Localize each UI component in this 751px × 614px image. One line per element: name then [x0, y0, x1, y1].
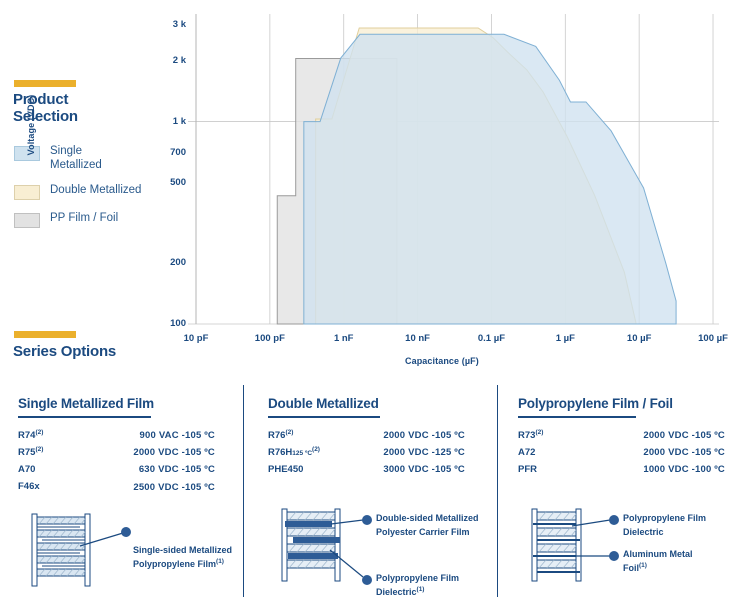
- column-polypropylene-film-foil: Polypropylene Film / Foil R73(2) 2000 VD…: [518, 380, 743, 611]
- callout-line1: Single-sided Metallized: [133, 544, 232, 556]
- series-spec: 2000 VDC -105 ºC: [604, 444, 743, 461]
- callout-line2: Dielectric(1): [376, 584, 459, 598]
- x-tick-label: 1 nF: [319, 333, 369, 344]
- series-name: A72: [518, 447, 535, 458]
- series-table-polypropylene: R73(2) 2000 VDC -105 ºC A72 2000 VDC -10…: [518, 427, 743, 478]
- x-tick-label: 100 pF: [245, 333, 295, 344]
- x-tick-label: 10 pF: [171, 333, 221, 344]
- callout-label-poly-2: Aluminum Metal Foil(1): [623, 548, 693, 574]
- column-single-metallized-film: Single Metallized Film R74(2) 900 VAC -1…: [18, 380, 233, 611]
- y-tick-label: 700: [158, 147, 186, 158]
- metal-layer: [288, 553, 338, 559]
- series-name: PFR: [518, 464, 537, 475]
- table-row[interactable]: F46x 2500 VDC -105 ºC: [18, 478, 233, 495]
- y-tick-label: 3 k: [158, 19, 186, 30]
- x-tick-label: 100 µF: [688, 333, 738, 344]
- chart-plot-svg: [0, 0, 751, 372]
- series-spec: 2000 VDC -105 ºC: [104, 444, 233, 461]
- product-selection-page: Product Selection Single Metallized Doub…: [0, 0, 751, 611]
- callout-line2: Foil(1): [623, 560, 693, 574]
- capacitor-diagram-double: Double-sided Metallized Polyester Carrie…: [268, 504, 483, 609]
- series-spec: 1000 VDC -100 ºC: [604, 461, 743, 478]
- table-row[interactable]: R74(2) 900 VAC -105 ºC: [18, 427, 233, 444]
- series-table-single-metallized: R74(2) 900 VAC -105 ºC R75(2) 2000 VDC -…: [18, 427, 233, 496]
- callout-line1: Polypropylene Film: [376, 572, 459, 584]
- metal-layer: [285, 521, 332, 527]
- series-note: (2): [35, 446, 43, 453]
- x-tick-label: 10 µF: [614, 333, 664, 344]
- column-rule-2: [268, 416, 380, 418]
- series-name-cell: R76H125 ºC(2): [268, 444, 354, 461]
- series-name-cell: F46x: [18, 478, 104, 495]
- column-divider-2: [497, 385, 498, 597]
- callout-dot: [609, 515, 619, 525]
- callout-line2: Polypropylene Film(1): [133, 556, 232, 570]
- series-name: R75: [18, 447, 35, 458]
- table-row[interactable]: R76H125 ºC(2) 2000 VDC -125 ºC: [268, 444, 483, 461]
- y-tick-label: 2 k: [158, 55, 186, 66]
- table-row[interactable]: R73(2) 2000 VDC -105 ºC: [518, 427, 743, 444]
- y-tick-label: 100: [158, 318, 186, 329]
- series-subnote: 125 ºC: [292, 450, 312, 457]
- series-name: R76: [268, 430, 285, 441]
- metal-layer: [293, 537, 340, 543]
- x-tick-label: 1 µF: [540, 333, 590, 344]
- callout-line2: Dielectric: [623, 524, 706, 538]
- series-name-cell: PHE450: [268, 461, 354, 478]
- series-spec: 2500 VDC -105 ºC: [104, 478, 233, 495]
- series-name-cell: R75(2): [18, 444, 104, 461]
- series-spec: 3000 VDC -105 ºC: [354, 461, 483, 478]
- voltage-capacitance-chart: Voltage (VDC) Capacitance (µF) 3 k2 k1 k…: [0, 0, 751, 372]
- callout-line1: Double-sided Metallized: [376, 512, 479, 524]
- callout-line1: Polypropylene Film: [623, 512, 706, 524]
- series-spec: 2000 VDC -105 ºC: [604, 427, 743, 444]
- series-name: F46x: [18, 482, 40, 493]
- series-name-cell: R76(2): [268, 427, 354, 444]
- table-row[interactable]: A70 630 VDC -105 ºC: [18, 461, 233, 478]
- series-name: PHE450: [268, 464, 303, 475]
- series-name-cell: PFR: [518, 461, 604, 478]
- table-row[interactable]: R75(2) 2000 VDC -105 ºC: [18, 444, 233, 461]
- table-row[interactable]: PFR 1000 VDC -100 ºC: [518, 461, 743, 478]
- callout-line2: Polyester Carrier Film: [376, 524, 479, 538]
- column-rule-3: [518, 416, 636, 418]
- callout-label-double-1: Double-sided Metallized Polyester Carrie…: [376, 512, 479, 538]
- callout-label-double-2: Polypropylene Film Dielectric(1): [376, 572, 459, 598]
- callout-dot: [121, 527, 131, 537]
- series-note: (2): [35, 429, 43, 436]
- callout-label-poly-1: Polypropylene Film Dielectric: [623, 512, 706, 538]
- callout-dot: [609, 551, 619, 561]
- table-row[interactable]: A72 2000 VDC -105 ºC: [518, 444, 743, 461]
- x-tick-label: 0.1 µF: [466, 333, 516, 344]
- column-double-metallized: Double Metallized R76(2) 2000 VDC -105 º…: [268, 380, 483, 611]
- series-name-cell: R74(2): [18, 427, 104, 444]
- table-row[interactable]: R76(2) 2000 VDC -105 ºC: [268, 427, 483, 444]
- table-row[interactable]: PHE450 3000 VDC -105 ºC: [268, 461, 483, 478]
- y-tick-label: 500: [158, 177, 186, 188]
- column-title-polypropylene-film-foil: Polypropylene Film / Foil: [518, 380, 743, 411]
- callout-line1: Aluminum Metal: [623, 548, 693, 560]
- y-tick-label: 200: [158, 257, 186, 268]
- column-title-double-metallized: Double Metallized: [268, 380, 483, 411]
- column-title-single-metallized-film: Single Metallized Film: [18, 380, 233, 411]
- series-note: (2): [285, 429, 293, 436]
- series-name: R74: [18, 430, 35, 441]
- capacitor-diagram-single: Single-sided Metallized Polypropylene Fi…: [18, 509, 233, 614]
- callout-label-single-1: Single-sided Metallized Polypropylene Fi…: [133, 544, 232, 570]
- column-rule-1: [18, 416, 151, 418]
- x-axis-title: Capacitance (µF): [405, 356, 479, 366]
- series-name-cell: A70: [18, 461, 104, 478]
- series-name-cell: A72: [518, 444, 604, 461]
- y-axis-title: Voltage (VDC): [26, 85, 36, 165]
- series-table-double-metallized: R76(2) 2000 VDC -105 ºC R76H125 ºC(2) 20…: [268, 427, 483, 478]
- callout-dot: [362, 575, 372, 585]
- series-spec: 630 VDC -105 ºC: [104, 461, 233, 478]
- series-note: (2): [535, 429, 543, 436]
- series-note: (2): [312, 446, 320, 453]
- column-divider-1: [243, 385, 244, 597]
- series-name: R73: [518, 430, 535, 441]
- series-options-columns: Single Metallized Film R74(2) 900 VAC -1…: [0, 380, 751, 611]
- series-spec: 2000 VDC -125 ºC: [354, 444, 483, 461]
- y-tick-label: 1 k: [158, 116, 186, 127]
- capacitor-diagram-polypropylene: Polypropylene Film Dielectric Aluminum M…: [518, 504, 743, 609]
- callout-dot: [362, 515, 372, 525]
- series-spec: 900 VAC -105 ºC: [104, 427, 233, 444]
- series-name-cell: R73(2): [518, 427, 604, 444]
- series-spec: 2000 VDC -105 ºC: [354, 427, 483, 444]
- series-name: A70: [18, 464, 35, 475]
- series-name: R76H: [268, 447, 292, 458]
- x-tick-label: 10 nF: [393, 333, 443, 344]
